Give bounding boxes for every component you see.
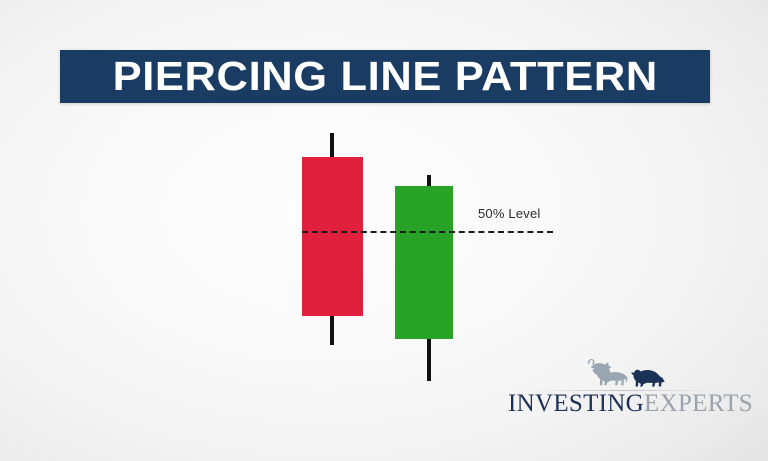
bearish-candle-body: [302, 157, 363, 316]
brand-logo: INVESTINGEXPERTS: [508, 358, 736, 420]
fifty-percent-level-line: [302, 231, 553, 233]
bull-and-bear-mark: [576, 358, 672, 392]
bullish-candle-body: [395, 186, 453, 339]
logo-wordmark: INVESTINGEXPERTS: [508, 391, 736, 416]
logo-word-experts: EXPERTS: [644, 390, 753, 417]
bull-icon: [588, 359, 628, 385]
bear-icon: [631, 370, 664, 387]
fifty-percent-level-label: 50% Level: [478, 206, 541, 221]
title-banner: PIERCING LINE PATTERN: [60, 50, 710, 103]
page-title: PIERCING LINE PATTERN: [112, 56, 657, 97]
infographic-canvas: PIERCING LINE PATTERN 50% Level: [0, 0, 768, 461]
logo-word-investing: INVESTING: [508, 390, 644, 417]
